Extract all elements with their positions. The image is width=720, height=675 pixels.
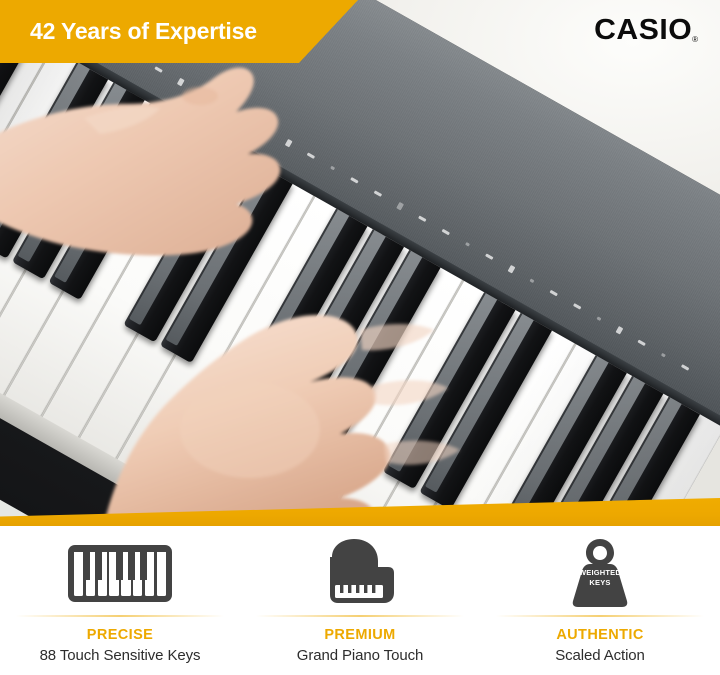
expertise-banner: 42 Years of Expertise — [0, 0, 358, 63]
feature-precise: PRECISE 88 Touch Sensitive Keys — [0, 526, 240, 675]
hand-upper — [0, 68, 280, 256]
hero-photo — [0, 0, 720, 525]
feature-title: PREMIUM — [324, 627, 395, 643]
feature-premium: PREMIUM Grand Piano Touch — [240, 526, 480, 675]
casio-logo: CASIO ® — [596, 16, 698, 45]
feature-authentic: WEIGHTED KEYS AUTHENTIC Scaled Action — [480, 526, 720, 675]
hand-lower — [106, 315, 460, 525]
feature-description: 88 Touch Sensitive Keys — [40, 647, 201, 664]
feature-title: AUTHENTIC — [556, 627, 643, 643]
weight-glyph — [568, 537, 632, 609]
feature-title: PRECISE — [87, 627, 153, 643]
grand-piano-glyph — [322, 537, 398, 609]
feature-divider-rule — [16, 615, 224, 617]
registered-trademark-icon: ® — [692, 36, 698, 44]
keyboard-icon — [68, 536, 172, 610]
grand-piano-icon — [322, 536, 398, 610]
feature-divider-rule — [496, 615, 704, 617]
banner-headline: 42 Years of Expertise — [30, 18, 257, 45]
feature-description: Scaled Action — [555, 647, 645, 664]
product-feature-panel: 42 Years of Expertise CASIO ® — [0, 0, 720, 675]
weight-icon: WEIGHTED KEYS — [568, 536, 632, 610]
feature-row: PRECISE 88 Touch Sensitive Keys — [0, 526, 720, 675]
casio-logo-wordmark: CASIO — [594, 16, 692, 45]
photo-hands — [0, 0, 720, 525]
feature-divider-rule — [256, 615, 464, 617]
feature-description: Grand Piano Touch — [297, 647, 423, 664]
